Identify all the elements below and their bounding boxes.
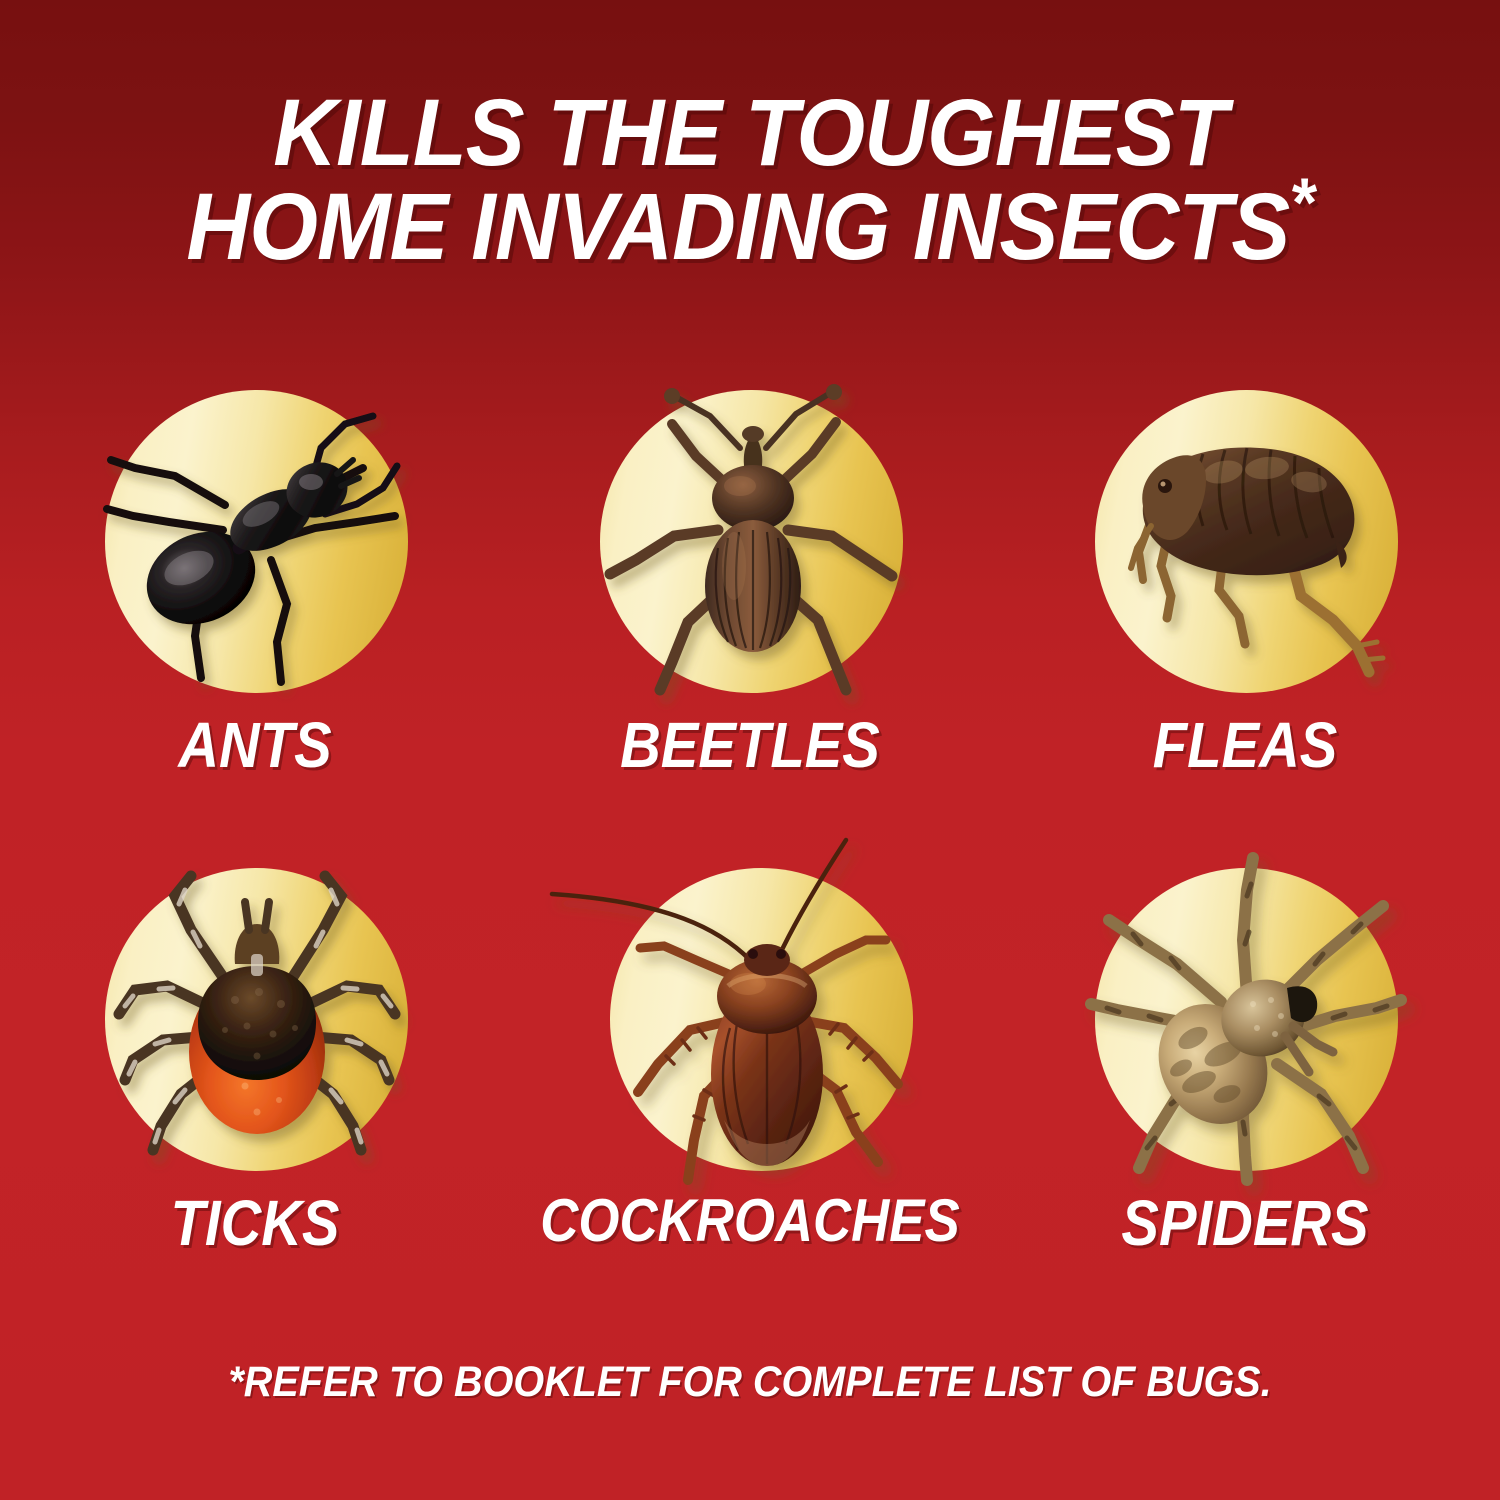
pest-cell-spiders: SPIDERS [995,868,1495,1178]
pest-cell-ants: ANTS [5,390,505,700]
pest-disc-wrap-ticks [5,868,505,1178]
gold-disc-ants [105,390,408,693]
pest-disc-wrap-ants [5,390,505,700]
pest-label-spiders: SPIDERS [1025,1186,1465,1260]
gold-disc-fleas [1095,390,1398,693]
pest-label-ticks: TICKS [35,1186,475,1260]
gold-disc-beetles [600,390,903,693]
tick-illustration [105,868,408,1171]
pest-disc-wrap-fleas [995,390,1495,700]
pest-label-ants: ANTS [35,708,475,782]
beetle-illustration [600,390,903,693]
ant-illustration [105,390,408,693]
pest-cell-beetles: BEETLES [500,390,1000,700]
pest-disc-wrap-cockroaches [500,868,1000,1178]
pest-label-beetles: BEETLES [530,708,970,782]
gold-disc-spiders [1095,868,1398,1171]
pest-disc-wrap-beetles [500,390,1000,700]
flea-illustration [1095,390,1398,693]
pest-cell-ticks: TICKS [5,868,505,1178]
pest-cell-fleas: FLEAS [995,390,1495,700]
gold-disc-cockroaches [610,868,913,1171]
cockroach-illustration [550,838,853,1141]
pest-label-cockroaches: COCKROACHES [530,1186,970,1255]
pest-grid: ANTS [0,0,1500,1500]
pest-cell-cockroaches: COCKROACHES [500,868,1000,1178]
pest-label-fleas: FLEAS [1025,708,1465,782]
footnote-text: *REFER TO BOOKLET FOR COMPLETE LIST OF B… [60,1358,1440,1407]
product-feature-panel: KILLS THE TOUGHEST HOME INVADING INSECTS… [0,0,1500,1500]
spider-illustration [1095,868,1398,1171]
pest-disc-wrap-spiders [995,868,1495,1178]
gold-disc-ticks [105,868,408,1171]
